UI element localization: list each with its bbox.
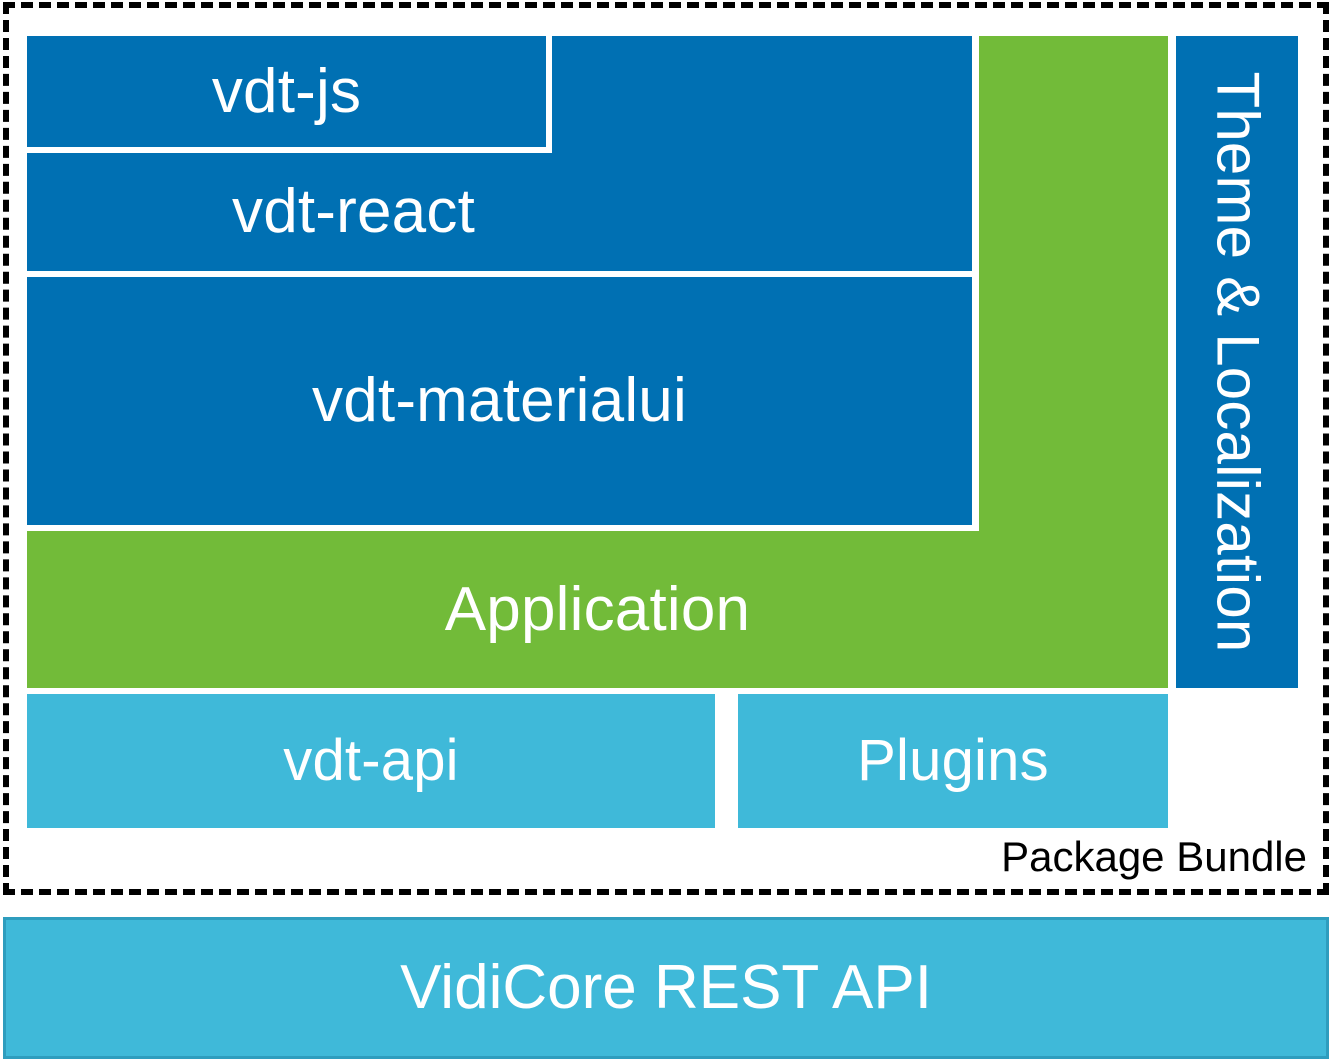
block-plugins[interactable]: Plugins <box>738 694 1168 828</box>
block-vdt-api-label: vdt-api <box>283 732 459 790</box>
block-plugins-label: Plugins <box>857 732 1049 790</box>
block-vdt-js-label: vdt-js <box>212 61 361 123</box>
block-application-label: Application <box>445 579 751 641</box>
architecture-diagram: vdt-js vdt-react vdt-materialui Theme & … <box>0 0 1335 1064</box>
block-vdt-react[interactable]: vdt-react <box>27 153 680 271</box>
block-theme-localization-label: Theme & Localization <box>1207 72 1267 653</box>
block-vdt-react-label: vdt-react <box>232 181 475 243</box>
green-filler-right <box>979 36 1168 531</box>
block-application[interactable]: Application <box>27 531 1168 688</box>
block-vdt-api[interactable]: vdt-api <box>27 694 715 828</box>
package-bundle-label: Package Bundle <box>0 836 1307 878</box>
block-theme-localization[interactable]: Theme & Localization <box>1176 36 1298 688</box>
block-vdt-materialui-label: vdt-materialui <box>312 370 687 432</box>
block-vdt-js[interactable]: vdt-js <box>27 36 546 147</box>
block-vidicore-rest-api[interactable]: VidiCore REST API <box>3 917 1329 1059</box>
block-vdt-materialui[interactable]: vdt-materialui <box>27 277 972 525</box>
block-vidicore-rest-api-label: VidiCore REST API <box>400 957 932 1019</box>
